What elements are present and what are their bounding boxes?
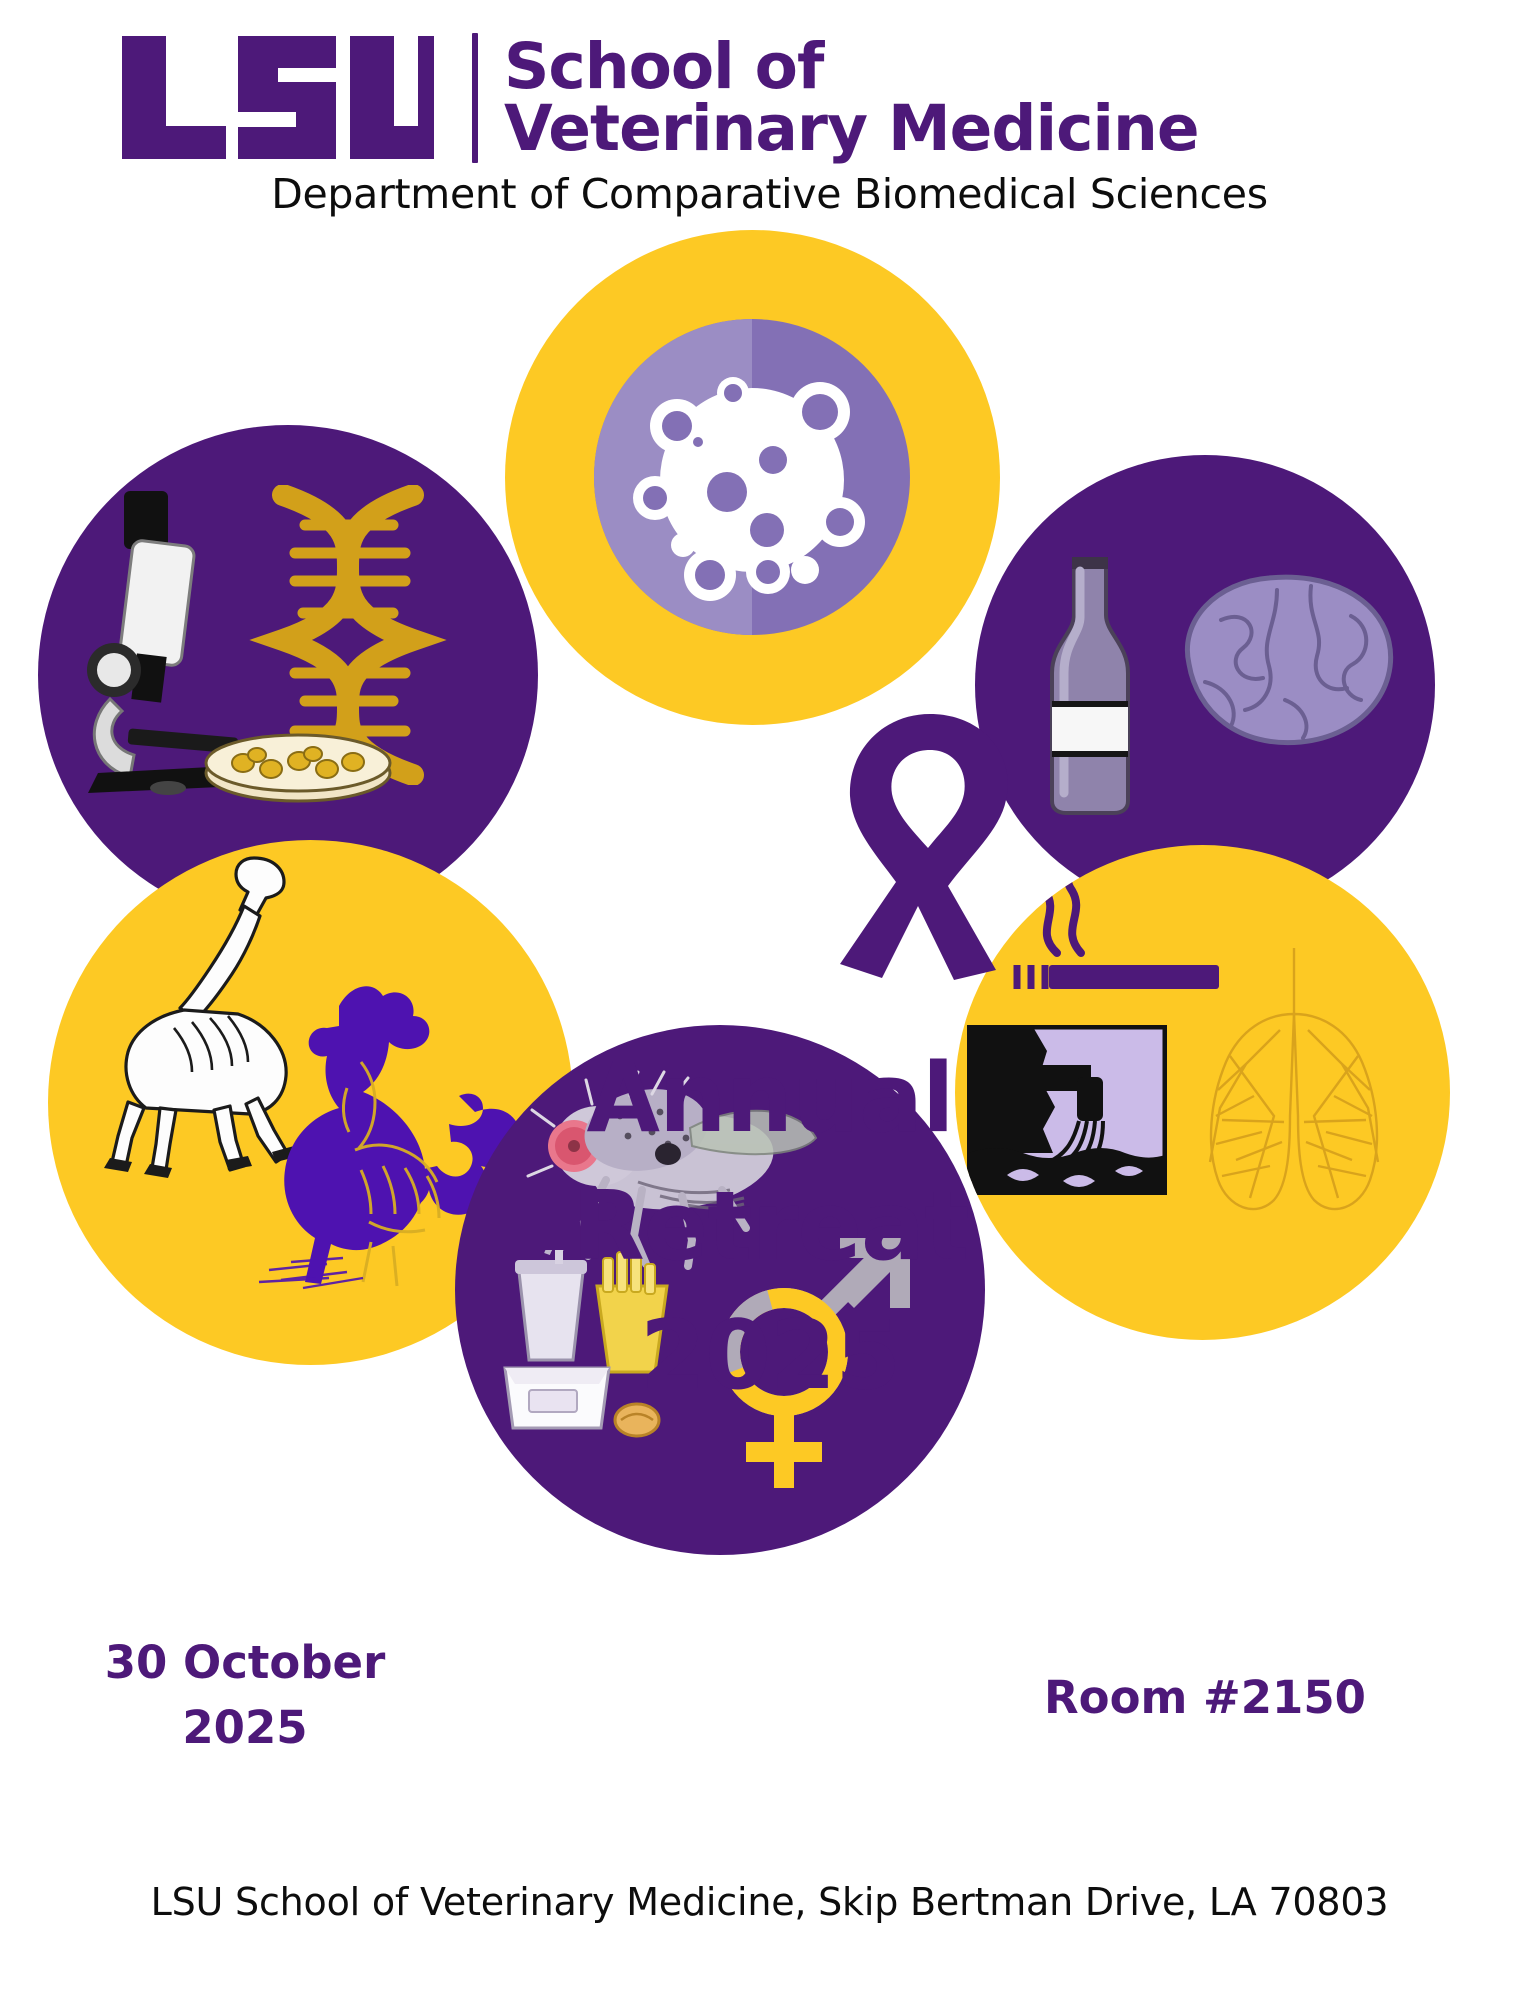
- event-date-label: 30 October 2025: [60, 1630, 430, 1761]
- brain-icon: [1165, 560, 1405, 760]
- lungs-icon: [1170, 940, 1420, 1240]
- wine-bottle-icon: [1030, 555, 1150, 815]
- awareness-ribbon-icon: [830, 710, 1030, 980]
- poster-title: Annual Retreat 2025: [470, 1035, 1070, 1420]
- title-line-2: Retreat: [470, 1163, 1070, 1291]
- event-date-line-1: 30 October: [60, 1630, 430, 1695]
- logo-line-school-of: School of: [504, 36, 1199, 98]
- event-room-label: Room #2150: [1040, 1665, 1370, 1730]
- poster-header: School of Veterinary Medicine Department…: [0, 0, 1539, 230]
- logo-line-veterinary-medicine: Veterinary Medicine: [504, 98, 1199, 160]
- circle-virology: [505, 230, 1000, 725]
- event-date-line-2: 2025: [60, 1695, 430, 1760]
- petri-dish-icon: [203, 725, 393, 805]
- title-line-3: 2025: [470, 1292, 1070, 1420]
- logo-divider: [472, 33, 478, 163]
- title-line-1: Annual: [470, 1035, 1070, 1163]
- illustration-collage: Annual Retreat 2025: [0, 225, 1539, 1785]
- lsu-logo-lockup: School of Veterinary Medicine: [118, 30, 1199, 165]
- department-subtitle: Department of Comparative Biomedical Sci…: [0, 170, 1539, 218]
- virus-cell-icon: [505, 230, 1000, 725]
- lsu-wordmark-icon: [118, 30, 438, 165]
- venue-address: LSU School of Veterinary Medicine, Skip …: [0, 1880, 1539, 1924]
